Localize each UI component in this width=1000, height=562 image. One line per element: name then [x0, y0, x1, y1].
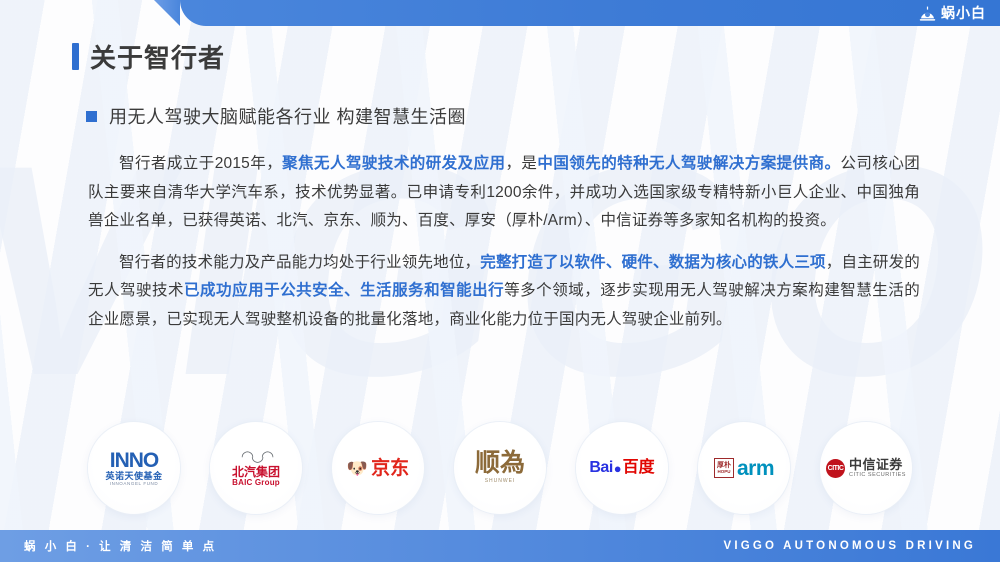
- inno-logo-icon: INNO: [110, 450, 159, 471]
- square-bullet-icon: [86, 111, 97, 122]
- paragraph-1: 智行者成立于2015年，聚焦无人驾驶技术的研发及应用，是中国领先的特种无人驾驶解…: [88, 150, 920, 236]
- shunwei-logo-icon: 顺為: [475, 452, 525, 476]
- citic-logo-icon: CITIC: [826, 459, 845, 478]
- paragraph-2: 智行者的技术能力及产品能力均处于行业领先地位，完整打造了以软件、硬件、数据为核心…: [88, 249, 920, 335]
- p2-seg4-highlight: 已成功应用于公共安全、生活服务和智能出行: [184, 282, 504, 299]
- body-content: 智行者成立于2015年，聚焦无人驾驶技术的研发及应用，是中国领先的特种无人驾驶解…: [88, 150, 920, 347]
- title-text: 关于智行者: [90, 38, 225, 75]
- baidu-paw-icon: ●: [614, 462, 622, 475]
- shunwei-name-en: SHUNWEI: [485, 479, 516, 484]
- partner-logo-strip: INNO 英诺天使基金 INNOANGEL FUND ◠◡◠ 北汽集团 BAIC…: [88, 420, 912, 516]
- partner-logo-baidu: Bai ● 百度: [576, 422, 668, 514]
- jd-logo-row: 🐶 京东: [347, 459, 409, 478]
- baidu-logo-icon: Bai: [589, 460, 612, 476]
- baidu-logo-row: Bai ● 百度: [589, 460, 654, 476]
- hopu-arm-row: 厚朴 HOPU arm: [714, 458, 774, 479]
- citic-name-cn: 中信证券: [849, 458, 906, 472]
- p1-seg2-highlight: 聚焦无人驾驶技术的研发及应用: [282, 155, 505, 172]
- partner-logo-hopu-arm: 厚朴 HOPU arm: [698, 422, 790, 514]
- jd-name-cn: 京东: [371, 459, 409, 478]
- partner-logo-citic: CITIC 中信证券 CITIC SECURITIES: [820, 422, 912, 514]
- citic-logo-row: CITIC 中信证券 CITIC SECURITIES: [826, 458, 906, 479]
- hopu-name-cn: 厚朴: [717, 462, 731, 469]
- partner-logo-shunwei: 顺為 SHUNWEI: [454, 422, 546, 514]
- inno-name-cn: 英诺天使基金: [105, 472, 162, 481]
- footer-tagline: VIGGO AUTONOMOUS DRIVING: [723, 540, 976, 552]
- header-bar: [180, 0, 1000, 26]
- slide-root: VIGGO 蜗小白 关于智行者 用无人驾驶大脑赋能各行业 构建智慧生活圈 智行者…: [0, 0, 1000, 562]
- jd-logo-icon: 🐶: [347, 460, 368, 477]
- hopu-name-en: HOPU: [717, 470, 730, 475]
- citic-name-en: CITIC SECURITIES: [849, 472, 906, 478]
- citic-text-block: 中信证券 CITIC SECURITIES: [849, 458, 906, 479]
- subtitle: 用无人驾驶大脑赋能各行业 构建智慧生活圈: [86, 103, 466, 129]
- p1-seg1: 智行者成立于2015年，: [119, 155, 282, 172]
- snail-logo-icon: [919, 6, 936, 21]
- subtitle-text: 用无人驾驶大脑赋能各行业 构建智慧生活圈: [109, 103, 466, 129]
- p1-seg4-highlight: 中国领先的特种无人驾驶解决方案提供商。: [537, 155, 840, 172]
- baidu-name-cn: 百度: [623, 460, 655, 476]
- p1-seg3: ，是: [505, 155, 537, 172]
- hopu-arm-logo-icon: 厚朴 HOPU: [714, 458, 734, 478]
- baic-name-cn: 北汽集团: [232, 466, 280, 478]
- baic-logo-icon: ◠◡◠: [241, 449, 271, 464]
- footer-slogan: 蜗 小 白 · 让 清 洁 简 单 点: [24, 538, 217, 554]
- footer-bar: 蜗 小 白 · 让 清 洁 简 单 点 VIGGO AUTONOMOUS DRI…: [0, 530, 1000, 562]
- p2-seg1: 智行者的技术能力及产品能力均处于行业领先地位，: [119, 254, 480, 271]
- title-accent-bar: [72, 43, 79, 70]
- partner-logo-jd: 🐶 京东: [332, 422, 424, 514]
- arm-wordmark: arm: [737, 458, 774, 479]
- brand-name: 蜗小白: [941, 0, 986, 26]
- brand-logo: 蜗小白: [919, 0, 986, 26]
- p2-seg2-highlight: 完整打造了以软件、硬件、数据为核心的铁人三项: [480, 254, 826, 271]
- partner-logo-baic: ◠◡◠ 北汽集团 BAIC Group: [210, 422, 302, 514]
- page-title: 关于智行者: [72, 38, 225, 75]
- inno-name-en: INNOANGEL FUND: [110, 482, 159, 487]
- partner-logo-inno: INNO 英诺天使基金 INNOANGEL FUND: [88, 422, 180, 514]
- baic-name-en: BAIC Group: [232, 479, 280, 487]
